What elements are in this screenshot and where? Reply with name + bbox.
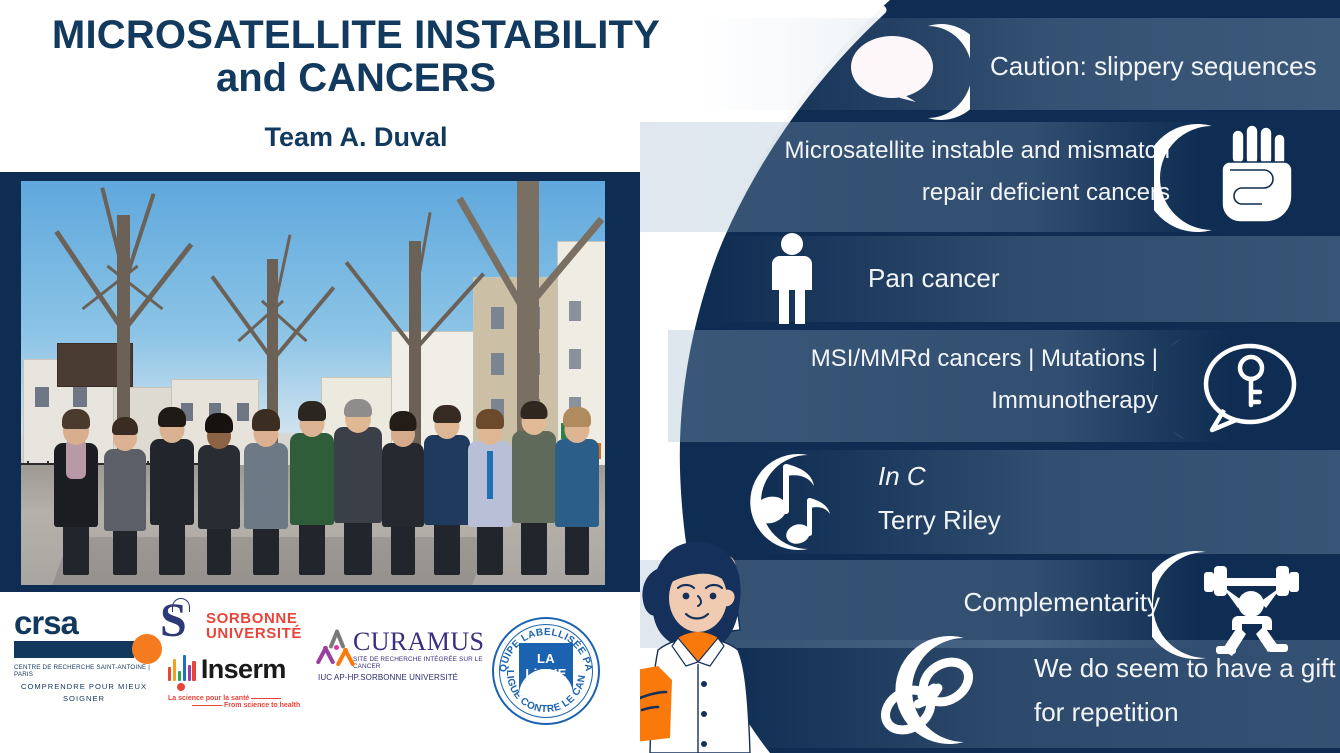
chain-links-icon [880, 634, 1024, 746]
row-text-line2: repair deficient cancers [670, 176, 1170, 211]
curamus-wordmark: CURAMUS [353, 630, 498, 655]
logo-strip: crsa CENTRE DE RECHERCHE SAINT-ANTOINE |… [0, 593, 640, 753]
list-item[interactable]: Microsatellite instable and mismatch rep… [640, 122, 1340, 232]
sorbonne-line1: SORBONNE [206, 611, 302, 626]
list-item[interactable]: MSI/MMRd cancers | Mutations | Immunothe… [640, 330, 1340, 442]
row-text-line2: Terry Riley [878, 502, 1001, 540]
logo-sorbonne-universite: S SORBONNE UNIVERSITÉ [160, 601, 330, 651]
inserm-wordmark: Inserm [201, 657, 286, 681]
key-speech-bubble-icon [1152, 326, 1302, 450]
inserm-tagline-en: From science to health [190, 702, 333, 709]
crsa-caption-1: CENTRE DE RECHERCHE SAINT-ANTOINE | PARI… [14, 664, 154, 678]
row-text-line2: Immunotherapy [680, 384, 1158, 419]
crsa-caption-2: COMPRENDRE POUR MIEUX [14, 682, 154, 691]
title-block: MICROSATELLITE INSTABILITY and CANCERS T… [0, 14, 712, 153]
team-photo [20, 180, 606, 586]
logo-inserm: Inserm La science pour la santé From sci… [168, 655, 333, 709]
inserm-bars-icon [168, 655, 196, 681]
subtitle-team: Team A. Duval [0, 122, 712, 153]
inserm-dot [177, 683, 185, 691]
raised-fist-icon [1154, 118, 1304, 238]
music-notes-icon [742, 452, 860, 552]
curamus-sub1: SITE DE RECHERCHE INTÉGRÉE SUR LE CANCER [353, 656, 498, 670]
row-text: Pan cancer [868, 260, 1000, 298]
curamus-sub2: IUC AP-HP.SORBONNE UNIVERSITÉ [318, 673, 498, 682]
logo-crsa: crsa CENTRE DE RECHERCHE SAINT-ANTOINE |… [14, 607, 154, 703]
inserm-tagline-fr: La science pour la santé [168, 695, 333, 702]
list-item[interactable]: Pan cancer [640, 236, 1340, 322]
page-title-line2: and CANCERS [0, 57, 712, 100]
row-text-line1: MSI/MMRd cancers | Mutations | [680, 342, 1158, 377]
page-title-line1: MICROSATELLITE INSTABILITY [0, 14, 712, 57]
crsa-bar [14, 641, 134, 658]
row-text-line1: In C [878, 458, 926, 496]
presentation-slide: MICROSATELLITE INSTABILITY and CANCERS T… [0, 0, 1340, 753]
photo-window [491, 353, 504, 375]
sorbonne-s-mark: S [160, 601, 200, 651]
speech-bubble-icon [840, 20, 970, 124]
logo-la-ligue: ÉQUIPE LABELLISÉE PAR LA LIGUE CONTRE LE… [492, 617, 600, 725]
sorbonne-dome-icon [172, 598, 190, 612]
sorbonne-line2: UNIVERSITÉ [206, 626, 302, 641]
row-text: Caution: slippery sequences [990, 48, 1317, 86]
row-text-line2: for repetition [1034, 694, 1179, 732]
row-text-line1: Microsatellite instable and mismatch [670, 134, 1170, 169]
crsa-dot [132, 634, 162, 664]
crsa-caption-3: SOIGNER [14, 694, 154, 703]
photo-window [491, 307, 504, 329]
weightlifter-icon [1152, 546, 1302, 664]
curamus-ribbons-icon [318, 629, 349, 671]
ligue-box-line2: CONTRE LE CANCER [519, 694, 573, 706]
person-icon [752, 228, 860, 332]
list-item[interactable]: Caution: slippery sequences [640, 18, 1340, 110]
logo-curamus: CURAMUS SITE DE RECHERCHE INTÉGRÉE SUR L… [318, 629, 498, 682]
crsa-wordmark: crsa [14, 607, 154, 638]
